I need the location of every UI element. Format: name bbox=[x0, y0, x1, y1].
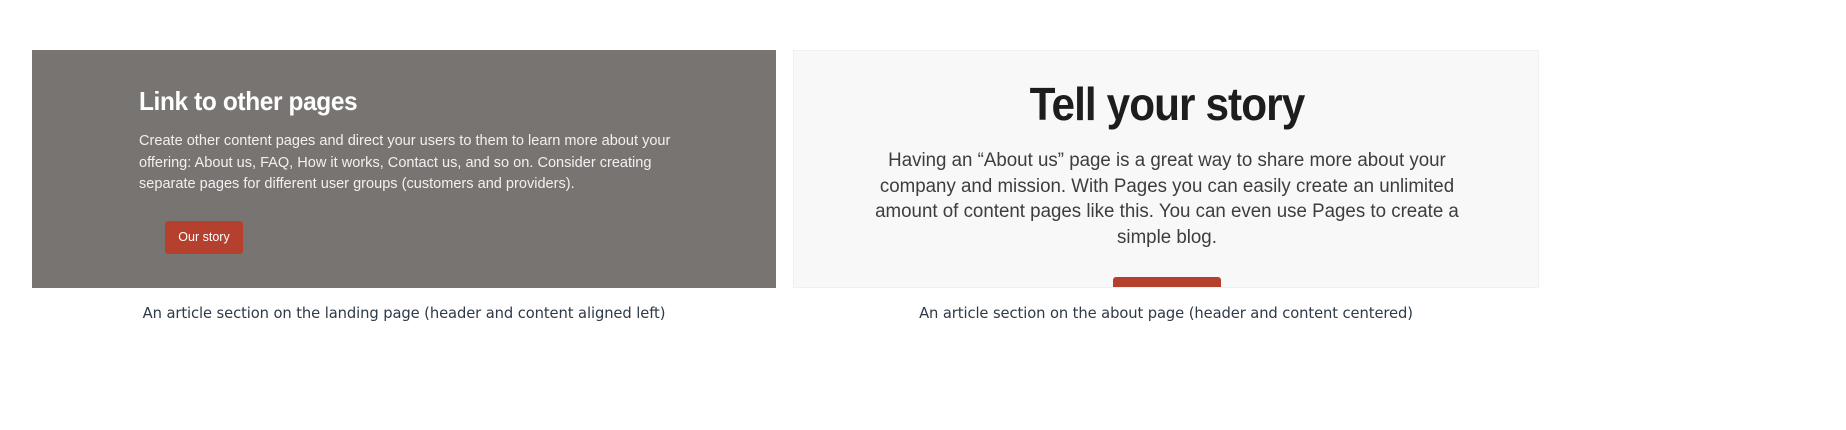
about-article-body: Having an “About us” page is a great way… bbox=[855, 148, 1479, 250]
about-page-example-column: Tell your story Having an “About us” pag… bbox=[793, 50, 1539, 323]
article-section-comparison: Link to other pages Create other content… bbox=[0, 0, 1846, 430]
about-article-section-card: Tell your story Having an “About us” pag… bbox=[793, 50, 1539, 288]
landing-article-section-card: Link to other pages Create other content… bbox=[32, 50, 776, 288]
landing-article-body: Create other content pages and direct yo… bbox=[139, 130, 682, 195]
landing-article-content: Link to other pages Create other content… bbox=[139, 86, 699, 254]
about-article-content: Tell your story Having an “About us” pag… bbox=[850, 77, 1484, 288]
about-example-caption: An article section on the about page (he… bbox=[812, 288, 1521, 323]
about-article-heading: Tell your story bbox=[875, 77, 1458, 131]
landing-example-caption: An article section on the landing page (… bbox=[51, 288, 758, 323]
landing-article-heading: Link to other pages bbox=[139, 86, 665, 116]
go-to-pages-button[interactable]: Go to Pages bbox=[1113, 277, 1221, 288]
landing-page-example-column: Link to other pages Create other content… bbox=[32, 50, 776, 323]
our-story-button[interactable]: Our story bbox=[165, 221, 243, 254]
